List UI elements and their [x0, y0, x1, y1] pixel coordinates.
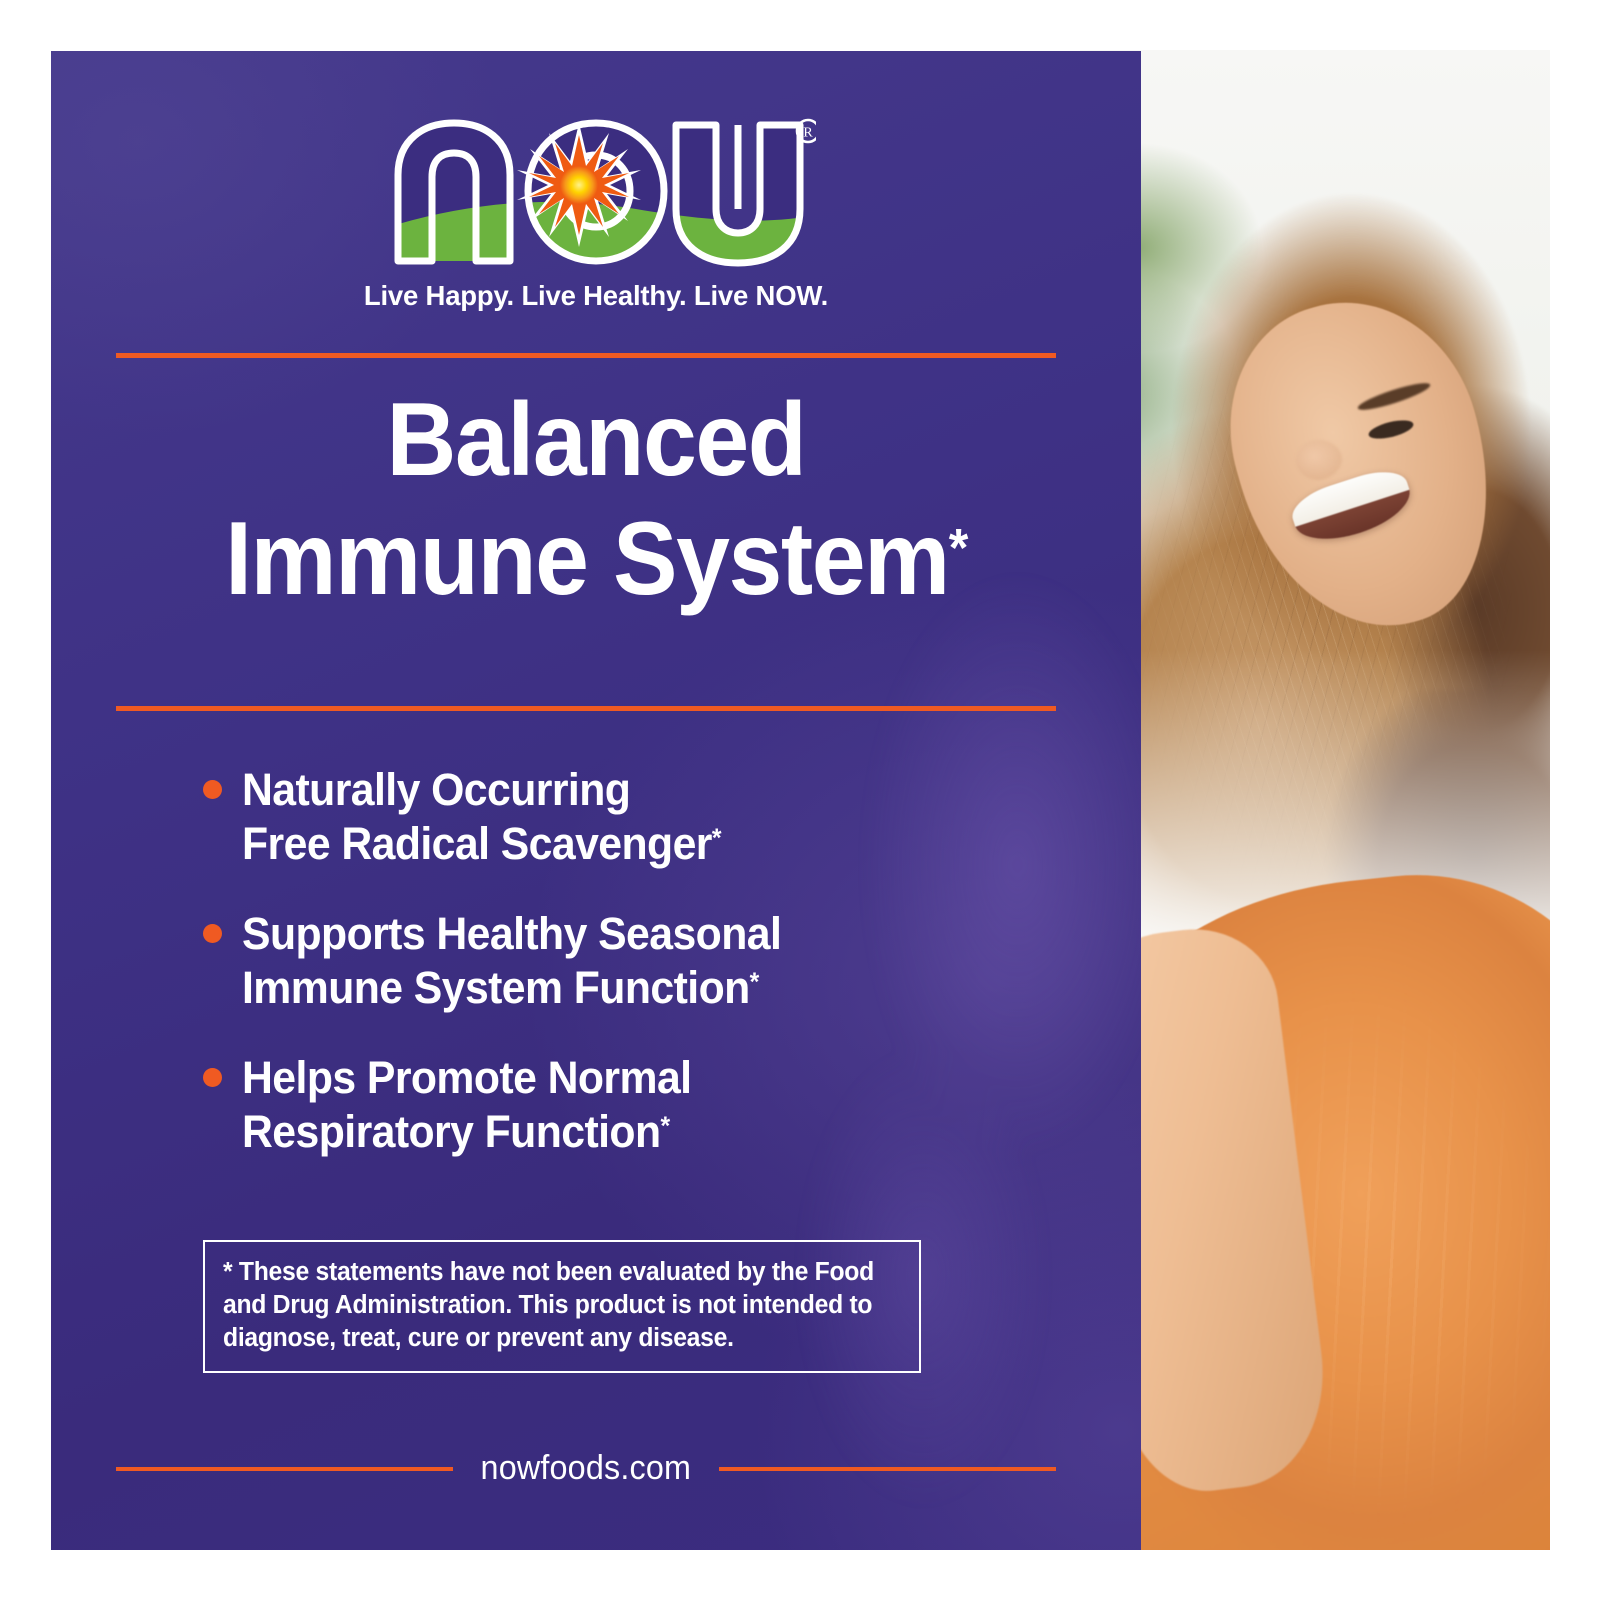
benefit-2-asterisk: *: [750, 966, 759, 996]
website-url[interactable]: nowfoods.com: [481, 1449, 692, 1488]
headline-line-2-text: Immune System: [225, 501, 949, 617]
photo-nose: [1296, 440, 1342, 480]
bullet-dot-icon: [203, 780, 222, 799]
benefit-2-line-1: Supports Healthy Seasonal: [242, 908, 781, 959]
marketing-banner: R Live Happy. Live Healthy. Live NOW. Ba…: [0, 0, 1600, 1600]
page-title: Balanced Immune System*: [89, 381, 1103, 618]
footer-rule-left: [116, 1467, 453, 1471]
benefit-text-1: Naturally Occurring Free Radical Scaveng…: [242, 763, 721, 871]
benefit-text-3: Helps Promote Normal Respiratory Functio…: [242, 1051, 691, 1159]
svg-text:R: R: [803, 126, 813, 141]
fda-disclaimer-box: * These statements have not been evaluat…: [203, 1240, 921, 1373]
headline-line-1: Balanced: [89, 381, 1103, 500]
bullet-dot-icon: [203, 924, 222, 943]
divider-bottom: [116, 706, 1056, 711]
brand-tagline: Live Happy. Live Healthy. Live NOW.: [364, 280, 828, 312]
benefit-text-2: Supports Healthy Seasonal Immune System …: [242, 907, 781, 1015]
bullet-dot-icon: [203, 1068, 222, 1087]
benefit-3-asterisk: *: [661, 1110, 670, 1140]
benefits-list: Naturally Occurring Free Radical Scaveng…: [203, 763, 1063, 1195]
list-item: Naturally Occurring Free Radical Scaveng…: [203, 763, 1063, 871]
headline-asterisk: *: [949, 517, 967, 577]
benefit-3-line-1: Helps Promote Normal: [242, 1052, 691, 1103]
benefit-2-line-2: Immune System Function: [242, 962, 750, 1013]
benefit-1-line-1: Naturally Occurring: [242, 764, 630, 815]
fda-disclaimer-text: * These statements have not been evaluat…: [223, 1256, 881, 1355]
benefit-3-line-2: Respiratory Function: [242, 1106, 661, 1157]
brand-logo[interactable]: R Live Happy. Live Healthy. Live NOW.: [51, 113, 1141, 312]
benefit-1-line-2: Free Radical Scavenger: [242, 818, 712, 869]
now-logo-icon: R: [376, 113, 816, 273]
footer-rule-right: [719, 1467, 1056, 1471]
headline-line-2: Immune System*: [89, 500, 1103, 619]
list-item: Supports Healthy Seasonal Immune System …: [203, 907, 1063, 1015]
lifestyle-photo: [1080, 50, 1550, 1550]
divider-top: [116, 353, 1056, 358]
footer: nowfoods.com: [116, 1449, 1056, 1488]
list-item: Helps Promote Normal Respiratory Functio…: [203, 1051, 1063, 1159]
benefit-1-asterisk: *: [712, 822, 721, 852]
content-panel: R Live Happy. Live Healthy. Live NOW. Ba…: [51, 51, 1141, 1550]
